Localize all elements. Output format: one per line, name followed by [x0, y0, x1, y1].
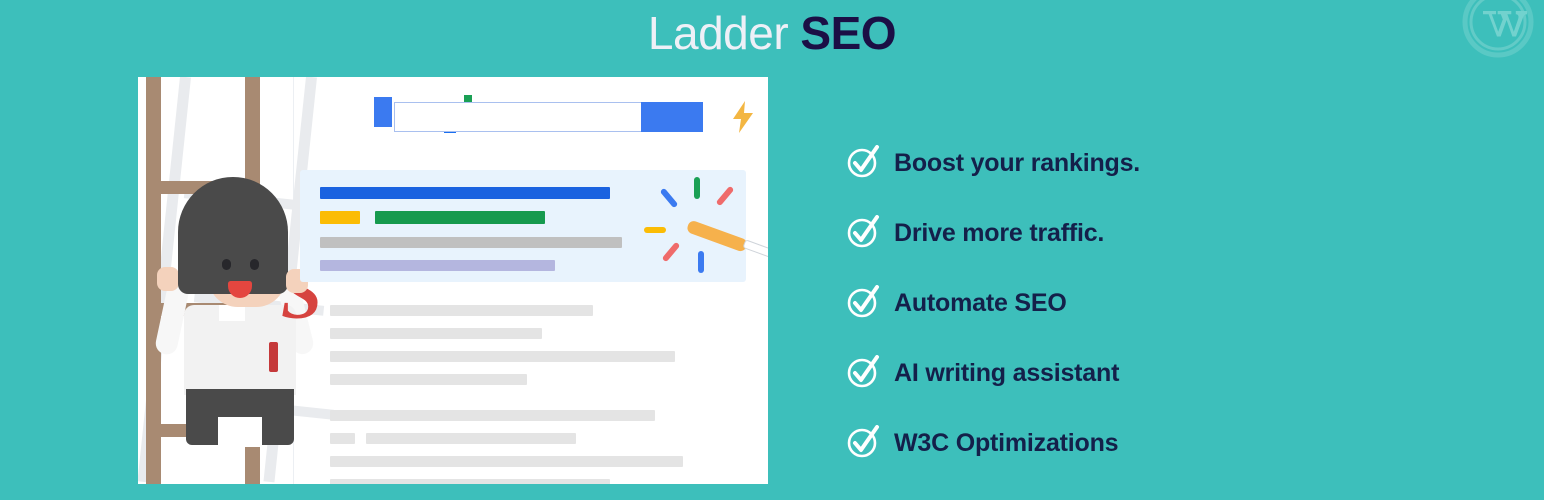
- feature-checklist: Boost your rankings. Drive more traffic.…: [846, 128, 1366, 478]
- check-circle-icon: [846, 285, 880, 319]
- logo-block: [374, 97, 392, 127]
- placeholder-bar: [366, 433, 576, 444]
- placeholder-bar: [330, 479, 610, 484]
- result-title-bar: [320, 187, 610, 199]
- result-desc-bar: [320, 237, 622, 248]
- lightning-bolt-icon: [730, 101, 756, 133]
- sparkle-ray: [694, 177, 700, 199]
- list-item-label: W3C Optimizations: [894, 428, 1118, 458]
- wand-handle: [742, 239, 768, 258]
- result-ad-badge: [320, 211, 360, 224]
- sparkle-ray: [644, 227, 666, 233]
- list-item: Drive more traffic.: [846, 198, 1366, 268]
- list-item-label: AI writing assistant: [894, 358, 1119, 388]
- list-item: AI writing assistant: [846, 338, 1366, 408]
- list-item: Boost your rankings.: [846, 128, 1366, 198]
- search-results-mockup: [138, 77, 768, 484]
- seo-illustration: S: [138, 77, 768, 484]
- placeholder-bar: [330, 305, 593, 316]
- title-word-ladder: Ladder: [648, 7, 788, 59]
- sparkle-ray: [660, 188, 679, 209]
- placeholder-bar: [330, 410, 655, 421]
- list-item-label: Drive more traffic.: [894, 218, 1104, 248]
- list-item: W3C Optimizations: [846, 408, 1366, 478]
- sparkle-ray: [698, 251, 704, 273]
- check-circle-icon: [846, 215, 880, 249]
- search-button[interactable]: [641, 102, 703, 132]
- placeholder-bar: [330, 351, 675, 362]
- check-circle-icon: [846, 145, 880, 179]
- check-circle-icon: [846, 355, 880, 389]
- list-item: Automate SEO: [846, 268, 1366, 338]
- result-url-bar: [375, 211, 545, 224]
- list-item-label: Boost your rankings.: [894, 148, 1140, 178]
- magic-wand-icon: [650, 175, 760, 275]
- ladder-seo-banner: Ladder SEO: [0, 0, 1544, 500]
- list-item-label: Automate SEO: [894, 288, 1067, 318]
- placeholder-bar: [330, 456, 683, 467]
- sparkle-ray: [716, 186, 735, 207]
- result-desc-bar: [320, 260, 555, 271]
- placeholder-bar: [330, 433, 355, 444]
- placeholder-bar: [330, 328, 542, 339]
- sparkle-ray: [662, 242, 681, 263]
- check-circle-icon: [846, 425, 880, 459]
- title-word-seo: SEO: [800, 7, 896, 59]
- page-title: Ladder SEO: [0, 6, 1544, 60]
- wand-tip: [686, 219, 749, 252]
- placeholder-bar: [330, 374, 527, 385]
